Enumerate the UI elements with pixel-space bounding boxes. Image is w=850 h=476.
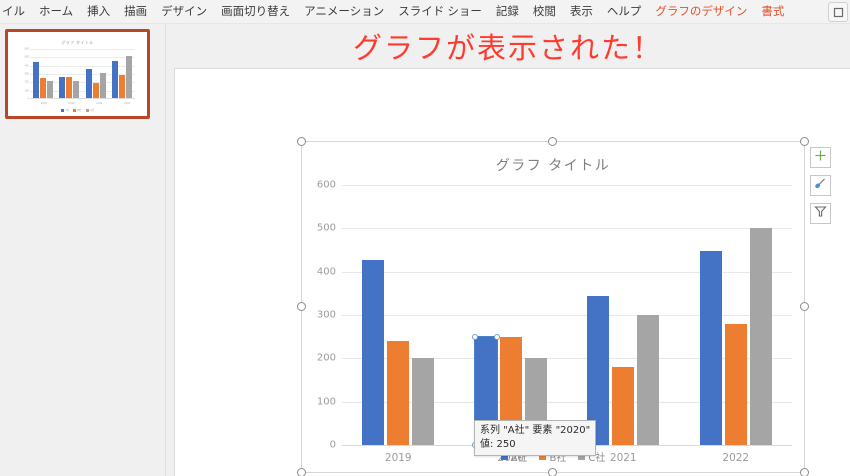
thumbnail-legend-swatch-icon [86, 109, 89, 112]
slide-editing-area: グラフが表示された！ グラフ タイトル 0100200300400500600 [166, 24, 850, 476]
brush-icon [814, 177, 827, 195]
resize-handle-bottom-right[interactable] [800, 468, 809, 476]
thumbnail-legend-item: C社 [86, 108, 94, 112]
thumbnail-bar [119, 75, 125, 98]
resize-handle-middle-right[interactable] [800, 302, 809, 311]
thumbnail-y-label: 300 [25, 73, 29, 76]
thumbnail-chart-plot [30, 49, 135, 99]
thumbnail-bar [73, 81, 79, 98]
resize-handle-top-left[interactable] [297, 137, 306, 146]
ribbon-tab-strip: イルホーム挿入描画デザイン画面切り替えアニメーションスライド ショー記録校閲表示… [0, 0, 850, 24]
thumbnail-y-label: 600 [25, 48, 29, 51]
slide-canvas[interactable]: グラフ タイトル 0100200300400500600 20192020202… [174, 68, 850, 476]
thumbnail-bar [86, 69, 92, 98]
ribbon-tab-13[interactable]: 書式 [754, 0, 791, 24]
chart-title[interactable]: グラフ タイトル [302, 155, 804, 175]
ribbon-tab-4[interactable]: デザイン [154, 0, 214, 24]
y-axis-label-400: 400 [317, 266, 336, 277]
bar-B社-2021[interactable] [612, 367, 634, 445]
thumbnail-bar [93, 83, 99, 98]
y-axis-label-500: 500 [317, 223, 336, 234]
thumbnail-legend-item: B社 [73, 108, 81, 112]
thumbnail-x-label: 2022 [124, 101, 130, 105]
thumbnail-bar [100, 73, 106, 98]
thumbnail-legend-swatch-icon [61, 109, 64, 112]
thumbnail-y-axis: 0100200300400500600 [17, 49, 29, 99]
thumbnail-y-label: 400 [25, 64, 29, 67]
resize-handle-bottom-left[interactable] [297, 468, 306, 476]
thumbnail-bar [66, 77, 72, 98]
resize-handle-top-right[interactable] [800, 137, 809, 146]
thumbnail-bar [47, 81, 53, 98]
chart-object[interactable]: グラフ タイトル 0100200300400500600 20192020202… [301, 141, 805, 473]
annotation-text: グラフが表示された！ [353, 25, 663, 67]
thumbnail-legend-label: B社 [77, 108, 81, 112]
ribbon-tab-5[interactable]: 画面切り替え [214, 0, 297, 24]
gridline-500 [342, 228, 792, 229]
chart-plot-area[interactable]: 0100200300400500600 2019202020212022 [342, 185, 792, 445]
thumbnail-bar-group [112, 49, 132, 98]
funnel-icon [814, 205, 827, 223]
y-axis-label-600: 600 [317, 180, 336, 191]
thumbnail-legend: A社B社C社 [8, 108, 147, 112]
thumbnail-bar [112, 61, 118, 98]
thumbnail-legend-label: A社 [65, 108, 69, 112]
thumbnail-bar [59, 77, 65, 98]
thumbnail-bar [33, 62, 39, 98]
annotation-banner: グラフが表示された！ [166, 24, 850, 68]
ribbon-tab-0[interactable]: イル [0, 0, 32, 24]
chart-filters-button[interactable] [810, 203, 831, 224]
thumbnail-bar-group [86, 49, 106, 98]
y-axis-label-200: 200 [317, 353, 336, 364]
thumbnail-legend-item: A社 [61, 108, 69, 112]
chart-datapoint-tooltip: 系列 "A社" 要素 "2020" 値: 250 [474, 420, 596, 456]
slide-thumbnail-pane[interactable]: グラフ タイトル 0100200300400500600 20192020202… [0, 24, 166, 476]
bar-C社-2022[interactable] [750, 228, 772, 445]
window-control-icon [833, 7, 844, 18]
tooltip-line-series: 系列 "A社" 要素 "2020" [480, 424, 590, 438]
bar-B社-2019[interactable] [387, 341, 409, 445]
chart-side-buttons [810, 147, 831, 224]
slide-thumbnail-content: グラフ タイトル 0100200300400500600 20192020202… [8, 32, 147, 116]
resize-handle-top-center[interactable] [548, 137, 557, 146]
thumbnail-chart-title: グラフ タイトル [8, 40, 147, 46]
thumbnail-x-label: 2019 [41, 101, 47, 105]
bar-B社-2022[interactable] [725, 324, 747, 445]
ribbon-tab-10[interactable]: 表示 [563, 0, 600, 24]
thumbnail-y-label: 500 [25, 56, 29, 59]
resize-handle-bottom-center[interactable] [548, 468, 557, 476]
powerpoint-window: イルホーム挿入描画デザイン画面切り替えアニメーションスライド ショー記録校閲表示… [0, 0, 850, 476]
ribbon-tab-2[interactable]: 挿入 [80, 0, 117, 24]
bar-A社-2022[interactable] [700, 251, 722, 445]
gridline-600 [342, 185, 792, 186]
thumbnail-x-label: 2021 [96, 101, 102, 105]
datapoint-handle-tl[interactable] [472, 334, 478, 340]
tooltip-line-value: 値: 250 [480, 438, 590, 452]
thumbnail-y-label: 100 [25, 89, 29, 92]
slide-thumbnail-1[interactable]: グラフ タイトル 0100200300400500600 20192020202… [5, 29, 150, 119]
y-axis-label-100: 100 [317, 396, 336, 407]
thumbnail-bar-group [59, 49, 79, 98]
bar-C社-2021[interactable] [637, 315, 659, 445]
gridline-400 [342, 272, 792, 273]
chart-elements-button[interactable] [810, 147, 831, 168]
ribbon-tab-3[interactable]: 描画 [117, 0, 154, 24]
bar-A社-2019[interactable] [362, 260, 384, 445]
ribbon-tabs: イルホーム挿入描画デザイン画面切り替えアニメーションスライド ショー記録校閲表示… [0, 0, 791, 24]
y-axis-label-300: 300 [317, 310, 336, 321]
thumbnail-bar-group [33, 49, 53, 98]
gridline-300 [342, 315, 792, 316]
thumbnail-legend-swatch-icon [73, 109, 76, 112]
plus-icon [814, 149, 827, 167]
ribbon-tab-9[interactable]: 校閲 [526, 0, 563, 24]
ribbon-tab-12[interactable]: グラフのデザイン [648, 0, 754, 24]
thumbnail-bar [40, 78, 46, 98]
thumbnail-y-label: 200 [25, 81, 29, 84]
ribbon-tab-7[interactable]: スライド ショー [391, 0, 489, 24]
thumbnail-bar [126, 56, 132, 98]
ribbon-tab-1[interactable]: ホーム [32, 0, 80, 24]
window-control-button[interactable] [828, 2, 848, 22]
ribbon-tab-8[interactable]: 記録 [489, 0, 526, 24]
thumbnail-legend-label: C社 [90, 108, 94, 112]
resize-handle-middle-left[interactable] [297, 302, 306, 311]
chart-styles-button[interactable] [810, 175, 831, 196]
thumbnail-y-label: 0 [28, 98, 29, 101]
datapoint-handle-tr[interactable] [494, 334, 500, 340]
ribbon-tab-11[interactable]: ヘルプ [600, 0, 649, 24]
thumbnail-x-label: 2020 [69, 101, 75, 105]
ribbon-tab-6[interactable]: アニメーション [297, 0, 391, 24]
bar-C社-2019[interactable] [412, 358, 434, 445]
